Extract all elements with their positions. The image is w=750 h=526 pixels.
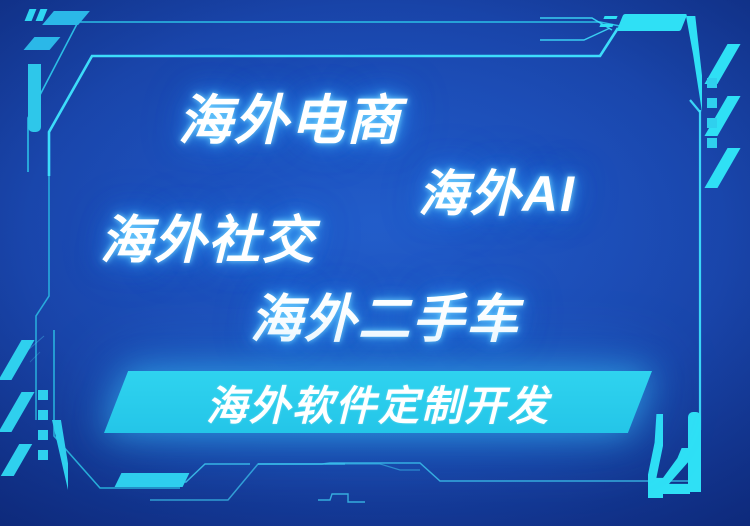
right-elbow-path bbox=[690, 100, 700, 112]
sparkle-2 bbox=[30, 352, 40, 362]
banner-label: 海外软件定制开发 bbox=[104, 371, 652, 433]
left-frame-path bbox=[36, 176, 49, 420]
converge-line-1 bbox=[540, 18, 612, 30]
circuit-trace-3 bbox=[258, 463, 700, 481]
headline-used-car: 海外二手车 bbox=[250, 277, 520, 352]
converge-line-2 bbox=[540, 28, 610, 40]
headline-social: 海外社交 bbox=[100, 198, 316, 273]
circuit-trace-4 bbox=[325, 464, 420, 470]
banner: 海外软件定制开发 bbox=[104, 371, 652, 433]
headline-ai: 海外AI bbox=[418, 154, 576, 226]
headline-ecommerce: 海外电商 bbox=[178, 76, 402, 155]
circuit-trace-1 bbox=[150, 464, 250, 482]
circuit-trace-5 bbox=[318, 494, 365, 502]
tech-poster: 海外电商 海外AI 海外社交 海外二手车 海外软件定制开发 bbox=[0, 0, 750, 526]
